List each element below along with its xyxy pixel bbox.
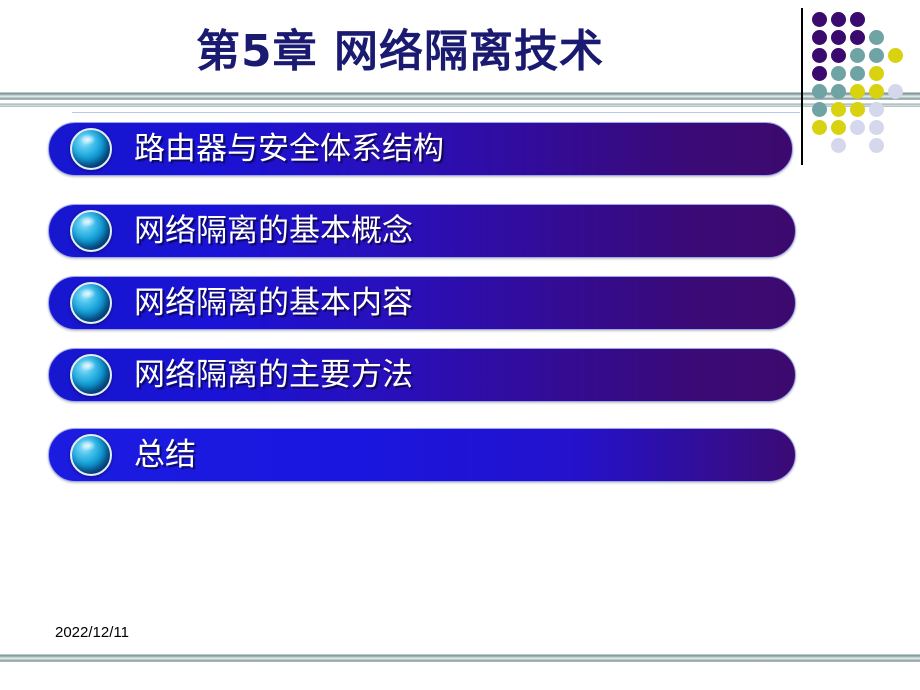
bullet-bar-label: 网络隔离的主要方法 [134, 358, 413, 392]
decorative-dot [812, 84, 827, 99]
decorative-dot [812, 102, 827, 117]
bullet-bar-isolation-main-methods[interactable]: 网络隔离的主要方法 [48, 348, 796, 402]
decorative-dot [831, 120, 846, 135]
decorative-dot [869, 48, 884, 63]
decorative-dot [812, 66, 827, 81]
header-divider-line-second [0, 103, 920, 107]
decorative-dot [831, 84, 846, 99]
decorative-dot [850, 48, 865, 63]
bullet-bar-isolation-basic-content[interactable]: 网络隔离的基本内容 [48, 276, 796, 330]
decorative-dot [869, 102, 884, 117]
bullet-bar-label: 网络隔离的基本内容 [134, 286, 413, 320]
header-accent-line [72, 112, 800, 113]
decorative-dot [888, 48, 903, 63]
blue-sphere-bullet-icon [70, 354, 112, 396]
slide-canvas: 第5章 网络隔离技术 路由器与安全体系结构 网络隔离的基本概念 网络隔离的基本内… [0, 0, 920, 690]
header-divider-line-top [0, 92, 920, 100]
footer-date: 2022/12/11 [55, 624, 129, 641]
footer-divider-line [0, 654, 920, 662]
decorative-dot [831, 138, 846, 153]
blue-sphere-bullet-icon [70, 210, 112, 252]
decorative-dot [831, 66, 846, 81]
bullet-bar-label: 网络隔离的基本概念 [134, 214, 413, 248]
decorative-dot [850, 30, 865, 45]
blue-sphere-bullet-icon [70, 282, 112, 324]
decorative-dot [850, 66, 865, 81]
decorative-dot [869, 120, 884, 135]
decorative-dot [812, 120, 827, 135]
bullet-bar-summary[interactable]: 总结 [48, 428, 796, 482]
decorative-dot [812, 12, 827, 27]
decorative-dot [850, 12, 865, 27]
decorative-dot [888, 84, 903, 99]
decorative-dot [869, 138, 884, 153]
decorative-dot [831, 102, 846, 117]
decorative-dot [831, 48, 846, 63]
bullet-bar-isolation-basic-concept[interactable]: 网络隔离的基本概念 [48, 204, 796, 258]
blue-sphere-bullet-icon [70, 434, 112, 476]
decorative-dot [869, 66, 884, 81]
decorative-dot [831, 12, 846, 27]
decorative-dot [869, 30, 884, 45]
decorative-dot [850, 102, 865, 117]
decorative-dot [812, 30, 827, 45]
bullet-bar-label: 路由器与安全体系结构 [134, 132, 444, 166]
decorative-dot [831, 30, 846, 45]
page-title: 第5章 网络隔离技术 [0, 22, 800, 82]
bullet-bar-label: 总结 [134, 438, 196, 472]
decorative-dot [869, 84, 884, 99]
decorative-dot [850, 120, 865, 135]
decorative-dot [850, 84, 865, 99]
dot-grid-decoration [812, 12, 912, 160]
decorative-dot [812, 48, 827, 63]
bullet-bar-router-security-architecture[interactable]: 路由器与安全体系结构 [48, 122, 793, 176]
blue-sphere-bullet-icon [70, 128, 112, 170]
vertical-divider-line [801, 8, 803, 165]
